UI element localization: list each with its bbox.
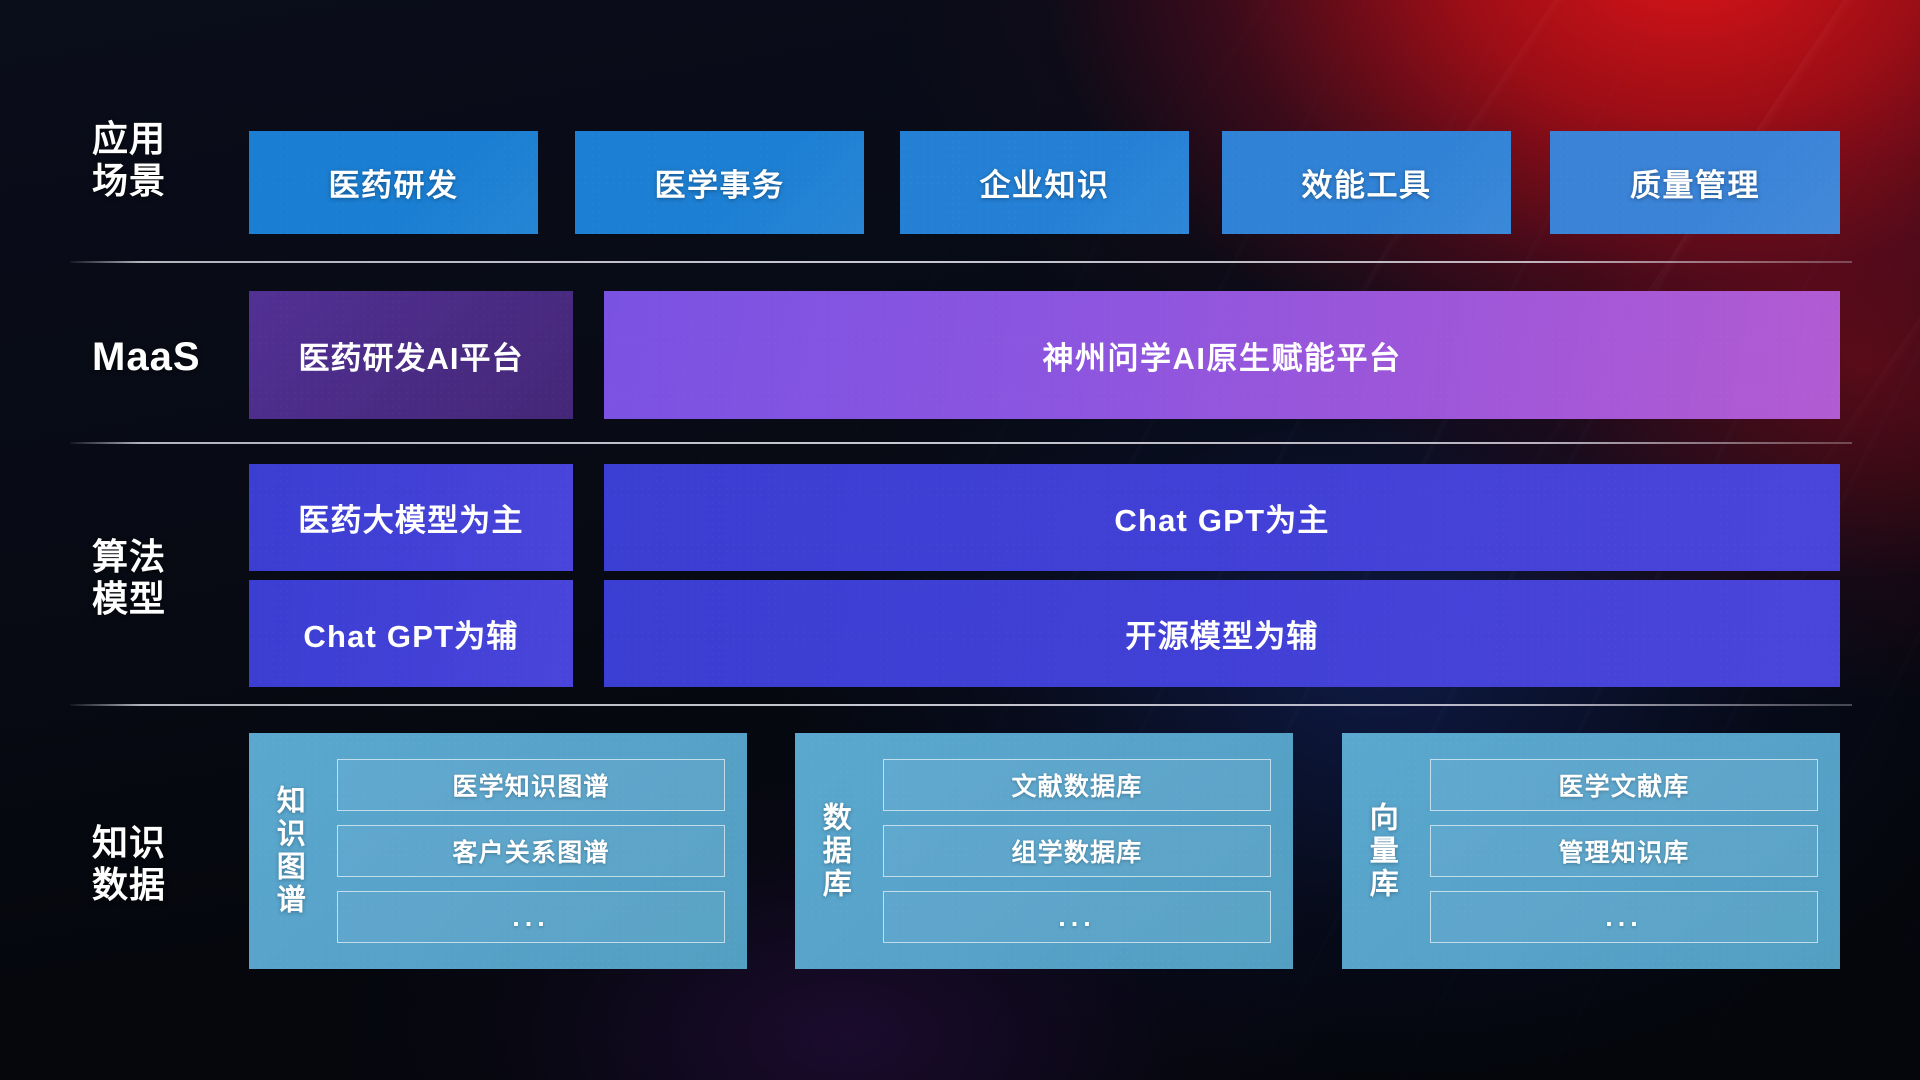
app-scenario-box-1[interactable]: 医药研发 — [249, 131, 538, 234]
divider-line-2 — [70, 442, 1852, 444]
row-label-application-scenarios: 应用 场景 — [92, 118, 242, 202]
app-scenario-label: 医药研发 — [329, 160, 459, 205]
knowledge-item[interactable]: 文献数据库 — [883, 759, 1271, 811]
maas-platform-label: 医药研发AI平台 — [299, 333, 524, 378]
maas-platform-label: 神州问学AI原生赋能平台 — [1043, 333, 1402, 378]
architecture-diagram-canvas: 应用 场景 医药研发 医学事务 企业知识 效能工具 质量管理 MaaS 医药研发… — [0, 0, 1920, 1080]
app-scenario-box-4[interactable]: 效能工具 — [1222, 131, 1511, 234]
app-scenario-label: 企业知识 — [980, 160, 1110, 205]
maas-platform-box-pharma[interactable]: 医药研发AI平台 — [249, 291, 573, 419]
knowledge-item-list: 文献数据库 组学数据库 ... — [873, 733, 1293, 969]
knowledge-item-list: 医学文献库 管理知识库 ... — [1420, 733, 1840, 969]
app-scenario-label: 医学事务 — [655, 160, 785, 205]
knowledge-panel-vector[interactable]: 向量库 医学文献库 管理知识库 ... — [1342, 733, 1840, 969]
knowledge-item[interactable]: 组学数据库 — [883, 825, 1271, 877]
algorithm-label: 医药大模型为主 — [298, 495, 523, 540]
knowledge-item[interactable]: 客户关系图谱 — [337, 825, 725, 877]
knowledge-panel-title: 数据库 — [795, 733, 873, 969]
algorithm-box-chatgpt-primary[interactable]: Chat GPT为主 — [604, 464, 1840, 571]
knowledge-panel-title: 向量库 — [1342, 733, 1420, 969]
row-label-algorithm-models: 算法 模型 — [92, 536, 242, 620]
app-scenario-box-5[interactable]: 质量管理 — [1550, 131, 1840, 234]
divider-line-1 — [70, 261, 1852, 263]
app-scenario-box-2[interactable]: 医学事务 — [575, 131, 864, 234]
app-scenario-label: 效能工具 — [1302, 160, 1432, 205]
knowledge-item-more[interactable]: ... — [1430, 891, 1818, 943]
knowledge-panel-database[interactable]: 数据库 文献数据库 组学数据库 ... — [795, 733, 1293, 969]
knowledge-item-more[interactable]: ... — [883, 891, 1271, 943]
algorithm-box-chatgpt-secondary[interactable]: Chat GPT为辅 — [249, 580, 573, 687]
knowledge-item-more[interactable]: ... — [337, 891, 725, 943]
algorithm-label: Chat GPT为辅 — [303, 611, 518, 656]
maas-platform-box-shenzhou[interactable]: 神州问学AI原生赋能平台 — [604, 291, 1840, 419]
app-scenario-box-3[interactable]: 企业知识 — [900, 131, 1189, 234]
algorithm-label: Chat GPT为主 — [1114, 495, 1329, 540]
knowledge-item[interactable]: 医学知识图谱 — [337, 759, 725, 811]
divider-line-3 — [70, 704, 1852, 706]
knowledge-panel-graph[interactable]: 知识图谱 医学知识图谱 客户关系图谱 ... — [249, 733, 747, 969]
app-scenario-label: 质量管理 — [1630, 160, 1760, 205]
algorithm-box-pharma-primary[interactable]: 医药大模型为主 — [249, 464, 573, 571]
knowledge-panel-title: 知识图谱 — [249, 733, 327, 969]
knowledge-item[interactable]: 医学文献库 — [1430, 759, 1818, 811]
row-label-maas: MaaS — [92, 334, 242, 380]
algorithm-label: 开源模型为辅 — [1125, 611, 1318, 656]
knowledge-item[interactable]: 管理知识库 — [1430, 825, 1818, 877]
row-label-knowledge-data: 知识 数据 — [92, 822, 242, 906]
algorithm-box-opensource-secondary[interactable]: 开源模型为辅 — [604, 580, 1840, 687]
knowledge-item-list: 医学知识图谱 客户关系图谱 ... — [327, 733, 747, 969]
